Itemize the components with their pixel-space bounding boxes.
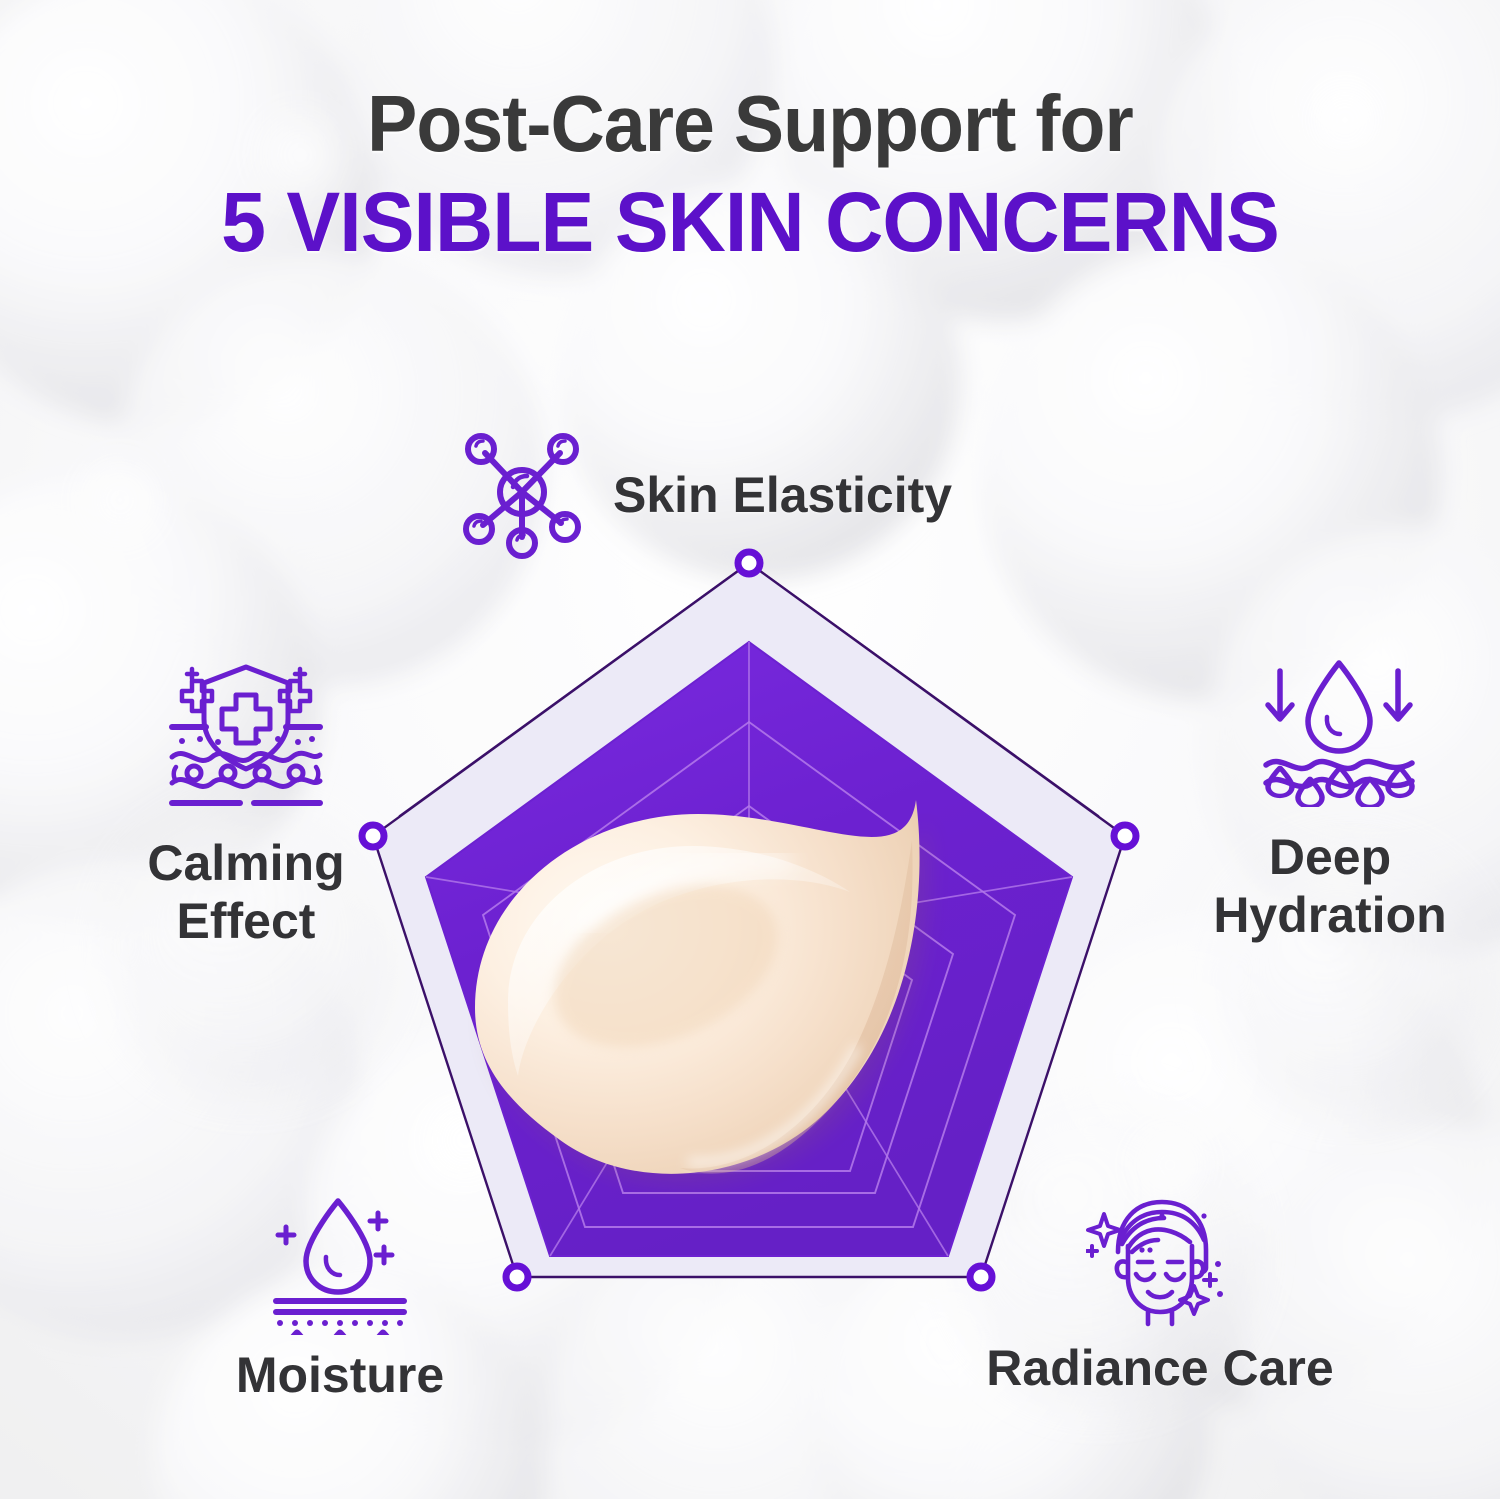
feature-label-calming-effect: Calming Effect <box>96 834 396 950</box>
title-line-2: 5 VISIBLE SKIN CONCERNS <box>30 174 1470 270</box>
title-line-1: Post-Care Support for <box>45 78 1455 170</box>
shield-skin-layers-icon <box>96 655 396 820</box>
feature-label-deep-hydration: Deep Hydration <box>1180 828 1480 944</box>
droplet-sparkle-barrier-icon <box>190 1195 490 1340</box>
feature-label-radiance-care: Radiance Care <box>940 1339 1380 1397</box>
glowing-face-icon <box>940 1190 1380 1335</box>
feature-skin-elasticity[interactable]: Skin Elasticity <box>455 425 952 564</box>
feature-moisture[interactable]: Moisture <box>190 1195 490 1404</box>
feature-radiance-care[interactable]: Radiance Care <box>940 1190 1380 1397</box>
infographic-canvas: Post-Care Support for 5 VISIBLE SKIN CON… <box>0 0 1500 1499</box>
cream-product-swatch <box>430 770 990 1200</box>
droplet-arrows-waves-icon <box>1198 655 1480 812</box>
feature-label-skin-elasticity: Skin Elasticity <box>613 466 952 524</box>
feature-calming-effect[interactable]: Calming Effect <box>96 655 396 950</box>
feature-label-moisture: Moisture <box>190 1346 490 1404</box>
molecule-network-icon <box>455 425 589 564</box>
feature-deep-hydration[interactable]: Deep Hydration <box>1180 655 1480 944</box>
page-title: Post-Care Support for 5 VISIBLE SKIN CON… <box>0 78 1500 270</box>
